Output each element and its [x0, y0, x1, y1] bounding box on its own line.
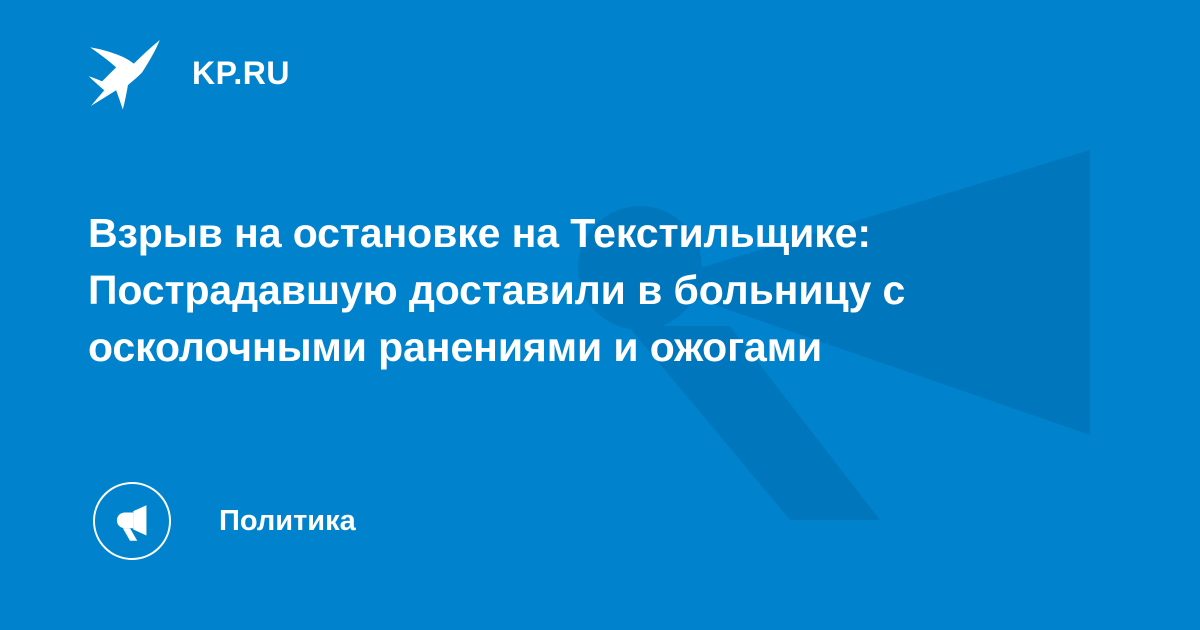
category-icon-circle: [93, 482, 171, 560]
brand-name: KP.RU: [192, 57, 290, 91]
category-badge[interactable]: Политика: [93, 482, 356, 560]
category-label: Политика: [219, 507, 356, 536]
megaphone-icon: [111, 500, 153, 542]
swallow-bird-icon: [88, 37, 162, 111]
brand-logo[interactable]: KP.RU: [88, 34, 290, 114]
page-title: Взрыв на остановке на Текстильщике: Пост…: [88, 205, 1098, 376]
article-share-card: KP.RU Взрыв на остановке на Текстильщике…: [0, 0, 1200, 630]
